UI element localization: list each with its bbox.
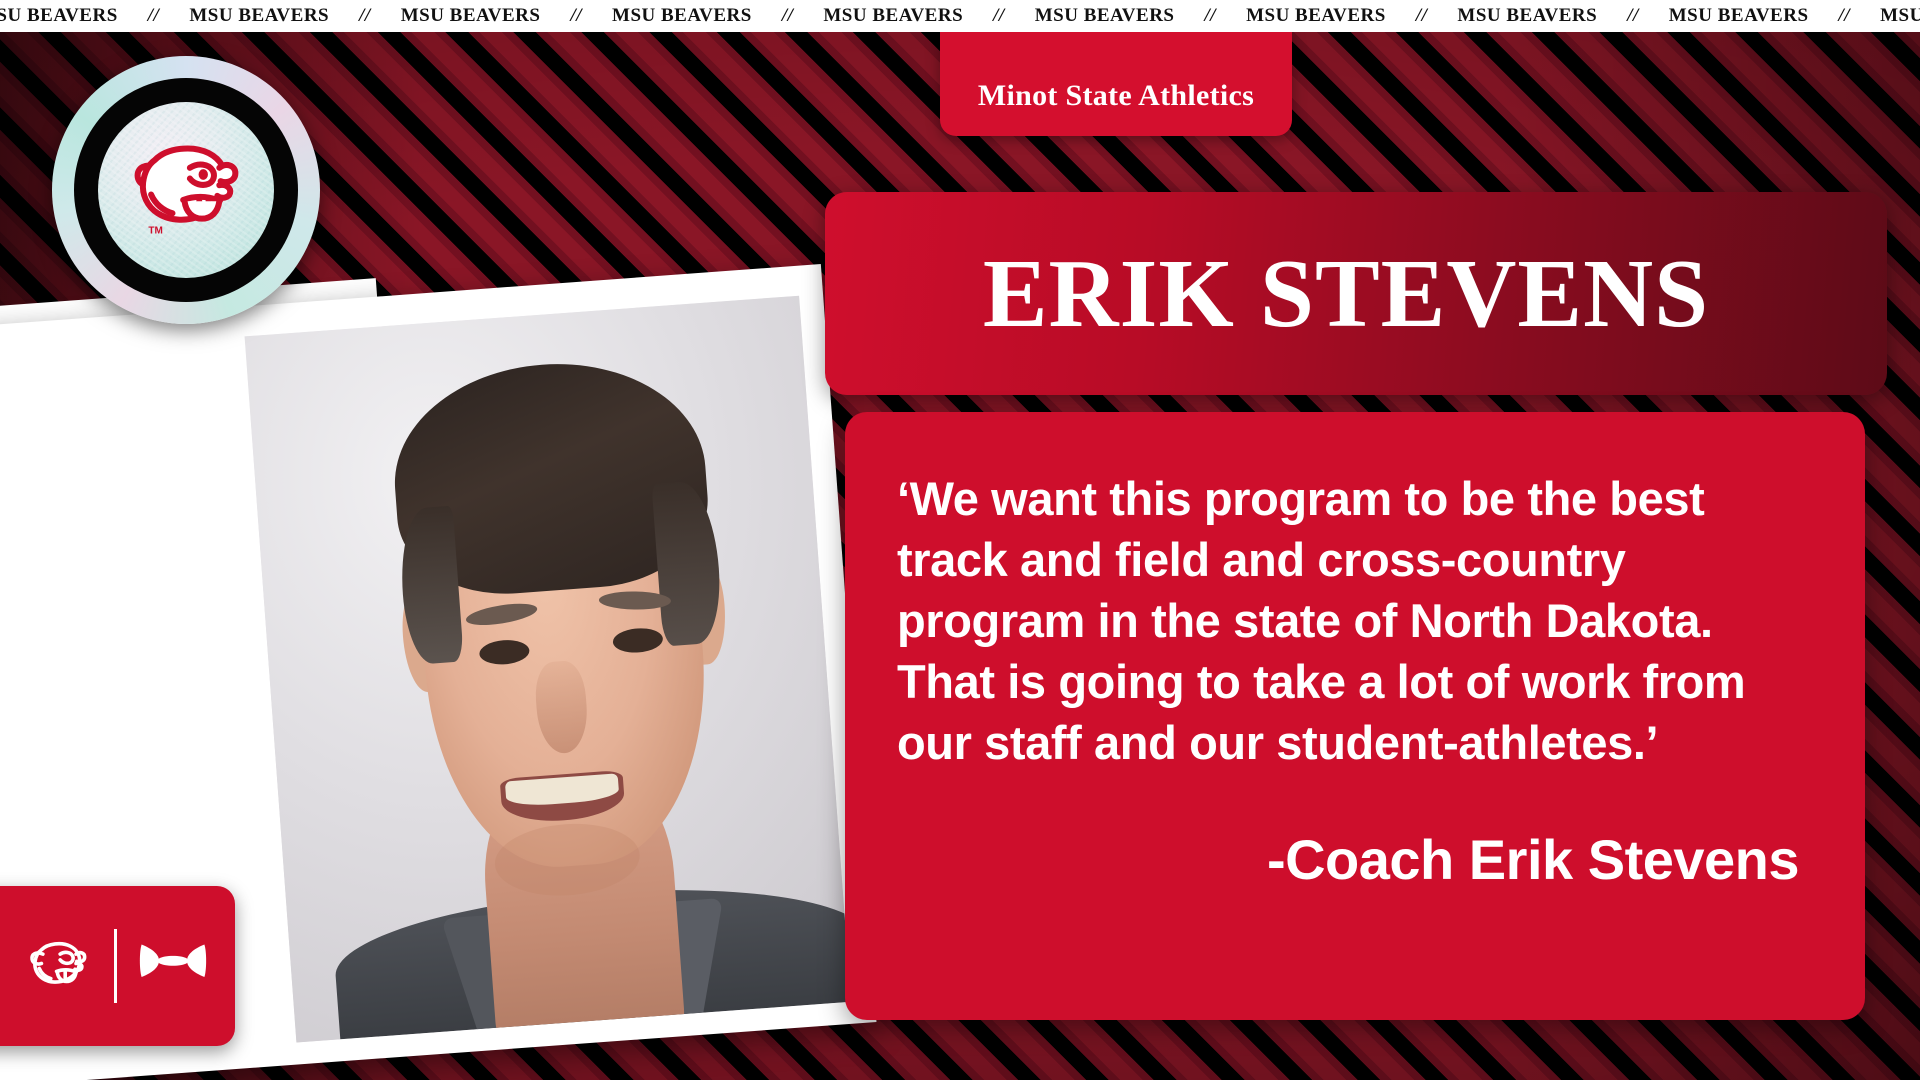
ticker-separator: //: [1597, 5, 1669, 26]
ticker-word: MSU BEAVERS: [1457, 5, 1597, 26]
ticker-word: MSU BEAVERS: [1880, 5, 1920, 26]
quote-card: ‘We want this program to be the best tra…: [845, 412, 1865, 1020]
quote-text: ‘We want this program to be the best tra…: [897, 468, 1817, 773]
beaver-head-icon: TM: [119, 123, 253, 257]
ticker-separator: //: [963, 5, 1035, 26]
ticker-word: MSU BEAVERS: [1669, 5, 1809, 26]
coach-headshot-image: [245, 296, 851, 1043]
ticker-word: MSU BEAVERS: [0, 5, 118, 26]
ticker-word: MSU BEAVERS: [189, 5, 329, 26]
ticker-item: MSU BEAVERS//: [1246, 5, 1457, 27]
ticker-item: MSU BEAVERS//: [1880, 5, 1920, 27]
sponsor-badge: [0, 886, 235, 1046]
coach-name-banner: ERIK STEVENS: [825, 192, 1887, 395]
ticker-separator: //: [329, 5, 401, 26]
ticker-separator: //: [1809, 5, 1881, 26]
ticker-separator: //: [1175, 5, 1247, 26]
ticker-word: MSU BEAVERS: [401, 5, 541, 26]
ticker-separator: //: [752, 5, 824, 26]
ticker-separator: //: [540, 5, 612, 26]
ticker-word: MSU BEAVERS: [612, 5, 752, 26]
ticker-separator: //: [118, 5, 190, 26]
ticker-item: MSU BEAVERS//: [189, 5, 400, 27]
msu-beavers-ticker: MSU BEAVERS//MSU BEAVERS//MSU BEAVERS//M…: [0, 0, 1920, 32]
under-armour-icon: [137, 941, 209, 991]
org-tab: Minot State Athletics: [940, 32, 1292, 136]
headshot-teeth: [505, 773, 619, 807]
ticker-item: MSU BEAVERS//: [1035, 5, 1246, 27]
sponsor-divider: [114, 929, 117, 1003]
ticker-item: MSU BEAVERS//: [0, 5, 189, 27]
org-tab-label: Minot State Athletics: [978, 55, 1254, 113]
quote-attribution: -Coach Erik Stevens: [897, 829, 1817, 891]
ticker-track: MSU BEAVERS//MSU BEAVERS//MSU BEAVERS//M…: [0, 5, 1920, 27]
ticker-item: MSU BEAVERS//: [401, 5, 612, 27]
logo-trademark: TM: [149, 225, 163, 236]
msu-beavers-logo: TM: [52, 56, 320, 324]
ticker-separator: //: [1386, 5, 1458, 26]
ticker-word: MSU BEAVERS: [1035, 5, 1175, 26]
ticker-word: MSU BEAVERS: [823, 5, 963, 26]
beaver-head-icon-small: [22, 935, 94, 997]
ticker-item: MSU BEAVERS//: [1457, 5, 1668, 27]
ticker-item: MSU BEAVERS//: [612, 5, 823, 27]
ticker-word: MSU BEAVERS: [1246, 5, 1386, 26]
graphic-canvas: MSU BEAVERS//MSU BEAVERS//MSU BEAVERS//M…: [0, 0, 1920, 1080]
ticker-item: MSU BEAVERS//: [823, 5, 1034, 27]
coach-name: ERIK STEVENS: [983, 245, 1709, 342]
ticker-item: MSU BEAVERS//: [1669, 5, 1880, 27]
logo-inner-disc: TM: [98, 102, 274, 278]
